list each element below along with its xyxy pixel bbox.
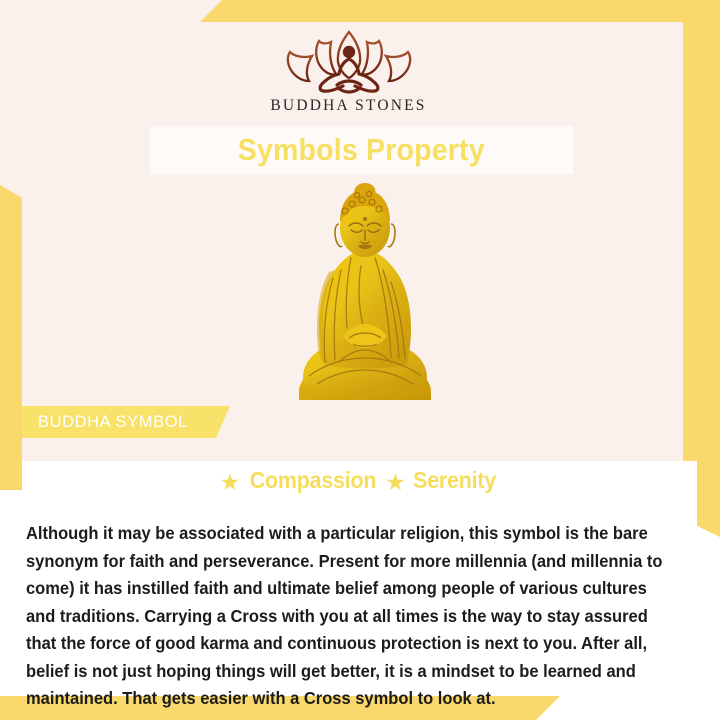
star-icon: ★ xyxy=(385,469,406,495)
brand-logo-block: BUDDHA STONES xyxy=(0,22,697,115)
description-paragraph: Although it may be associated with a par… xyxy=(26,520,664,713)
buddha-symbol-tag-label: BUDDHA SYMBOL xyxy=(22,413,188,432)
lotus-meditation-icon xyxy=(267,22,431,94)
virtue-compassion: Compassion xyxy=(249,467,376,494)
description-card: ★ Compassion ★ Serenity Although it may … xyxy=(22,461,697,696)
buddha-symbol-tag: BUDDHA SYMBOL xyxy=(22,406,230,438)
decor-band-left xyxy=(0,185,22,490)
poster-root: BUDDHA STONES Symbols Property xyxy=(0,0,720,720)
decor-band-top xyxy=(200,0,720,22)
virtues-row: ★ Compassion ★ Serenity xyxy=(22,467,697,494)
page-title: Symbols Property xyxy=(238,132,485,168)
virtue-serenity: Serenity xyxy=(413,467,496,494)
star-icon: ★ xyxy=(220,469,241,495)
brand-wordmark: BUDDHA STONES xyxy=(0,97,697,115)
golden-buddha-statue-icon xyxy=(279,178,451,400)
title-strip: Symbols Property xyxy=(150,126,573,174)
